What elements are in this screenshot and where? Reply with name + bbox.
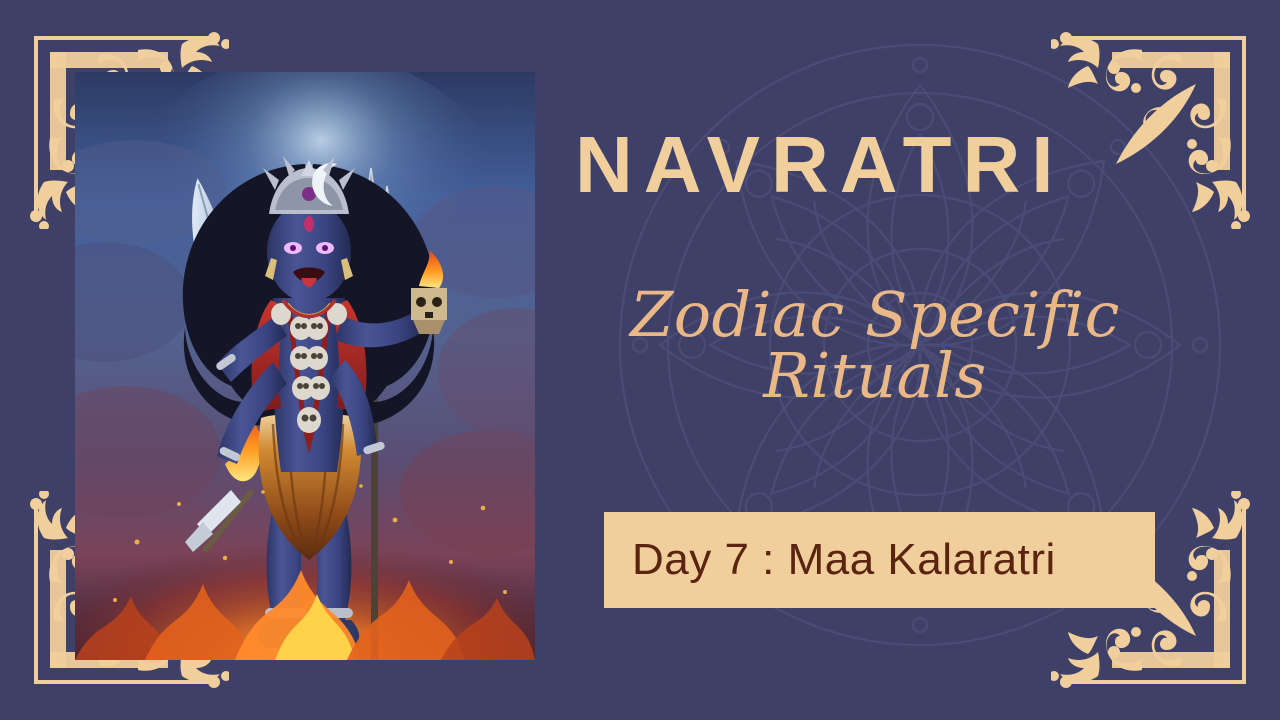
- goddess-kali-image: [75, 72, 535, 660]
- text-column: NAVRATRI Zodiac Specific Rituals Day 7 :…: [575, 0, 1195, 720]
- day-banner: Day 7 : Maa Kalaratri: [604, 512, 1155, 608]
- page-title: NAVRATRI: [575, 125, 1190, 205]
- day-banner-label: Day 7 : Maa Kalaratri: [604, 535, 1056, 585]
- subtitle: Zodiac Specific Rituals: [575, 285, 1175, 407]
- subtitle-line-2: Rituals: [575, 346, 1175, 407]
- navratri-poster: NAVRATRI Zodiac Specific Rituals Day 7 :…: [0, 0, 1280, 720]
